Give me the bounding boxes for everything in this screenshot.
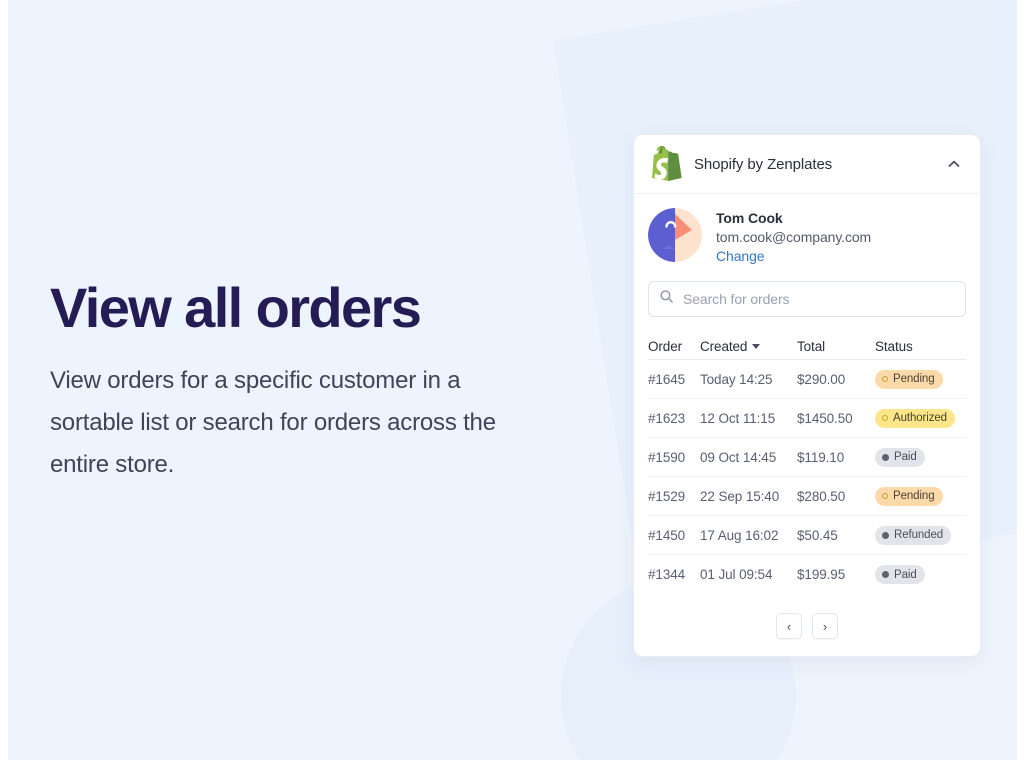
user-name: Tom Cook bbox=[716, 210, 871, 226]
table-row[interactable]: #145017 Aug 16:02$50.45Refunded bbox=[648, 516, 966, 555]
column-header-order[interactable]: Order bbox=[648, 339, 700, 354]
pagination: ‹ › bbox=[634, 613, 980, 639]
status-dot-icon bbox=[882, 454, 889, 461]
status-label: Refunded bbox=[894, 529, 943, 541]
user-summary: Tom Cook tom.cook@company.com Change bbox=[634, 194, 980, 266]
cell-created: Today 14:25 bbox=[700, 372, 797, 387]
cell-status: Paid bbox=[875, 448, 966, 467]
status-badge: Pending bbox=[875, 487, 943, 506]
status-label: Pending bbox=[893, 490, 935, 502]
status-dot-icon bbox=[882, 493, 888, 499]
cell-created: 12 Oct 11:15 bbox=[700, 411, 797, 426]
status-dot-icon bbox=[882, 376, 888, 382]
status-badge: Authorized bbox=[875, 409, 955, 428]
table-header-row: Order Created Total Status bbox=[648, 334, 966, 360]
status-label: Paid bbox=[894, 569, 917, 581]
cell-total: $290.00 bbox=[797, 372, 875, 387]
status-dot-icon bbox=[882, 532, 889, 539]
table-body: #1645Today 14:25$290.00Pending#162312 Oc… bbox=[648, 360, 966, 594]
column-header-created[interactable]: Created bbox=[700, 339, 797, 354]
status-label: Pending bbox=[893, 373, 935, 385]
table-row[interactable]: #134401 Jul 09:54$199.95Paid bbox=[648, 555, 966, 594]
orders-card: Shopify by Zenplates Tom Cook t bbox=[633, 134, 981, 657]
cell-order: #1450 bbox=[648, 528, 700, 543]
pagination-prev-button[interactable]: ‹ bbox=[776, 613, 802, 639]
change-account-link[interactable]: Change bbox=[716, 248, 764, 264]
table-row[interactable]: #162312 Oct 11:15$1450.50Authorized bbox=[648, 399, 966, 438]
status-badge: Refunded bbox=[875, 526, 951, 545]
table-row[interactable]: #152922 Sep 15:40$280.50Pending bbox=[648, 477, 966, 516]
cell-total: $50.45 bbox=[797, 528, 875, 543]
cell-status: Pending bbox=[875, 486, 966, 506]
search-box[interactable] bbox=[648, 281, 966, 317]
cell-order: #1623 bbox=[648, 411, 700, 426]
cell-created: 01 Jul 09:54 bbox=[700, 567, 797, 582]
cell-total: $280.50 bbox=[797, 489, 875, 504]
cell-order: #1344 bbox=[648, 567, 700, 582]
cell-created: 09 Oct 14:45 bbox=[700, 450, 797, 465]
page-title: View all orders bbox=[50, 278, 570, 338]
orders-table: Order Created Total Status #1645Today 14… bbox=[648, 334, 966, 594]
card-header: Shopify by Zenplates bbox=[634, 135, 980, 194]
table-row[interactable]: #1645Today 14:25$290.00Pending bbox=[648, 360, 966, 399]
card-title: Shopify by Zenplates bbox=[694, 156, 943, 173]
cell-status: Authorized bbox=[875, 408, 966, 428]
column-header-total[interactable]: Total bbox=[797, 339, 875, 354]
column-header-status[interactable]: Status bbox=[875, 339, 966, 354]
cell-total: $1450.50 bbox=[797, 411, 875, 426]
cell-order: #1590 bbox=[648, 450, 700, 465]
table-row[interactable]: #159009 Oct 14:45$119.10Paid bbox=[648, 438, 966, 477]
cell-created: 22 Sep 15:40 bbox=[700, 489, 797, 504]
status-label: Paid bbox=[894, 451, 917, 463]
status-dot-icon bbox=[882, 415, 888, 421]
shopify-bag-icon bbox=[648, 146, 682, 182]
hero-section: View all orders View orders for a specif… bbox=[50, 278, 570, 486]
status-label: Authorized bbox=[893, 412, 947, 424]
cell-created: 17 Aug 16:02 bbox=[700, 528, 797, 543]
chevron-up-icon[interactable] bbox=[943, 153, 965, 175]
pagination-next-button[interactable]: › bbox=[812, 613, 838, 639]
cell-total: $119.10 bbox=[797, 450, 875, 465]
cell-status: Paid bbox=[875, 565, 966, 584]
cell-status: Refunded bbox=[875, 526, 966, 545]
user-meta: Tom Cook tom.cook@company.com Change bbox=[716, 208, 871, 266]
cell-total: $199.95 bbox=[797, 567, 875, 582]
page-subtitle: View orders for a specific customer in a… bbox=[50, 360, 550, 486]
cell-order: #1529 bbox=[648, 489, 700, 504]
status-badge: Pending bbox=[875, 370, 943, 389]
avatar bbox=[648, 208, 702, 262]
caret-down-icon bbox=[752, 344, 760, 349]
status-badge: Paid bbox=[875, 448, 925, 467]
page-canvas: View all orders View orders for a specif… bbox=[8, 0, 1017, 760]
user-email: tom.cook@company.com bbox=[716, 229, 871, 245]
search-icon bbox=[659, 289, 674, 309]
search-input[interactable] bbox=[683, 291, 955, 307]
cell-order: #1645 bbox=[648, 372, 700, 387]
status-badge: Paid bbox=[875, 565, 925, 584]
status-dot-icon bbox=[882, 571, 889, 578]
cell-status: Pending bbox=[875, 369, 966, 389]
